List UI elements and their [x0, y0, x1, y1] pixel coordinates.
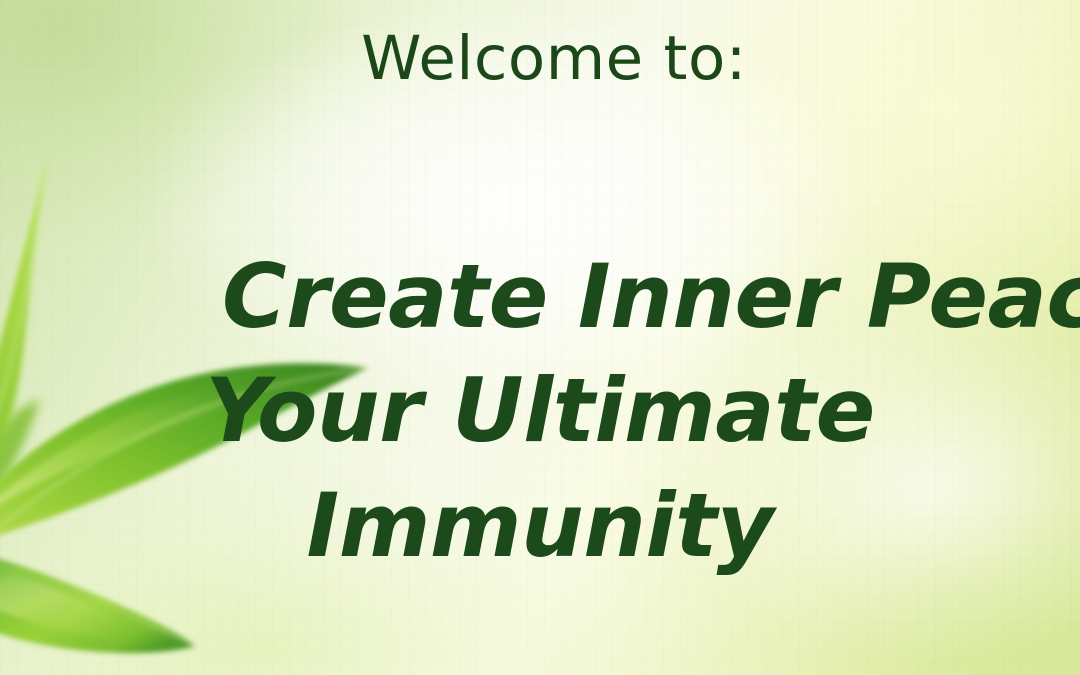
title-slide: Welcome to: Create Inner Peace Your Ulti… [0, 0, 1080, 675]
headline-line-1: Create Inner Peace [0, 240, 1080, 354]
headline-line-3: Immunity [0, 469, 1080, 583]
headline: Create Inner Peace Your Ultimate Immunit… [0, 240, 1080, 583]
welcome-eyebrow: Welcome to: [0, 26, 1080, 92]
headline-line-2: Your Ultimate [0, 354, 1080, 468]
